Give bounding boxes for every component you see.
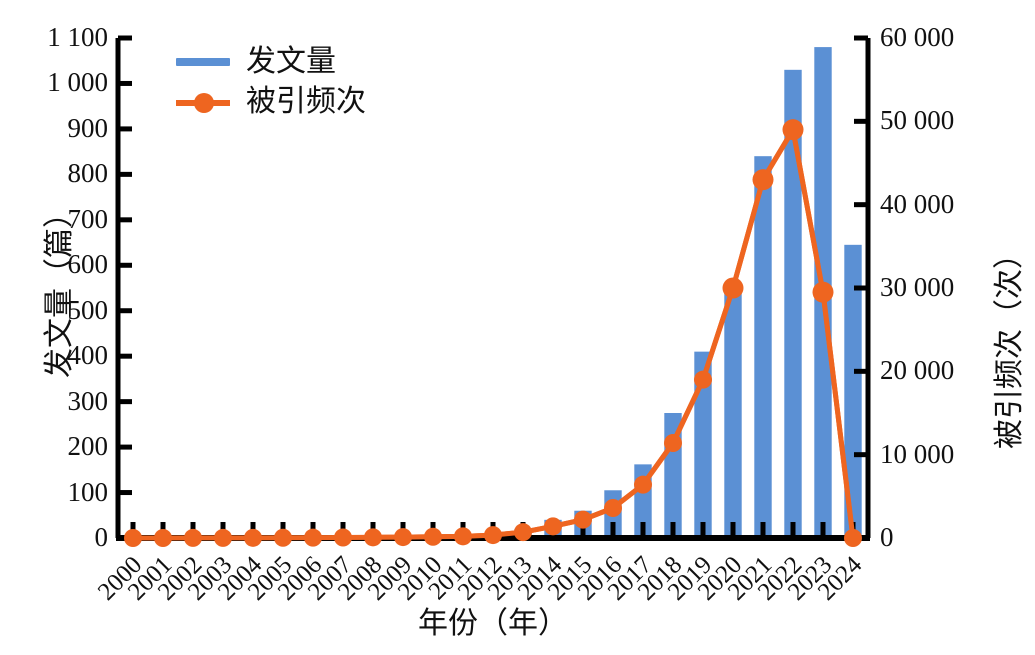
- line-marker-2013: [514, 523, 532, 541]
- line-marker-2005: [274, 529, 292, 547]
- line-marker-2007: [334, 529, 352, 547]
- legend-line-dot-icon: [172, 82, 234, 122]
- line-marker-2023: [813, 282, 834, 303]
- line-marker-2010: [424, 528, 442, 546]
- citation-line-path-overlay: [133, 130, 853, 538]
- chart-figure: 01002003004005006007008009001 0001 100 0…: [0, 0, 1035, 650]
- y-tick-label-right-10000: 10 000: [880, 441, 954, 468]
- line-marker-2000: [124, 529, 142, 547]
- line-marker-2017: [634, 476, 652, 494]
- y-tick-label-left-200: 200: [68, 433, 109, 460]
- line-marker-2006: [304, 529, 322, 547]
- y-tick-label-left-0: 0: [95, 524, 109, 551]
- line-marker-2021: [753, 169, 774, 190]
- line-marker-2001: [154, 529, 172, 547]
- line-marker-2003: [214, 529, 232, 547]
- line-marker-2008: [364, 528, 382, 546]
- line-marker-2019: [694, 371, 712, 389]
- legend-label-1: 被引频次: [246, 87, 366, 117]
- line-marker-2004: [244, 529, 262, 547]
- line-series: [133, 130, 853, 538]
- line-marker-2011: [454, 527, 472, 545]
- line-marker-2012: [484, 526, 502, 544]
- y-tick-label-right-50000: 50 000: [880, 107, 954, 134]
- legend-item-bar: 发文量: [172, 42, 366, 82]
- y-tick-label-right-60000: 60 000: [880, 24, 954, 51]
- y-tick-label-right-20000: 20 000: [880, 357, 954, 384]
- line-marker-2018: [664, 434, 682, 452]
- y-tick-label-left-900: 900: [68, 115, 109, 142]
- line-markers: [124, 119, 862, 547]
- y-tick-label-right-30000: 30 000: [880, 274, 954, 301]
- legend-bar-swatch-icon: [172, 42, 234, 82]
- bar-2021: [754, 156, 771, 538]
- y-axis-left-title: 发文量（篇）: [44, 158, 76, 418]
- line-marker-2002: [184, 529, 202, 547]
- y-tick-label-right-0: 0: [880, 524, 894, 551]
- line-marker-2009: [394, 528, 412, 546]
- x-axis-title: 年份（年）: [343, 608, 643, 640]
- y-tick-label-left-100: 100: [68, 479, 109, 506]
- legend-label-0: 发文量: [246, 47, 336, 77]
- chart-legend: 发文量 被引频次: [172, 42, 366, 122]
- line-marker-2020: [723, 278, 744, 299]
- y-tick-label-left-1100: 1 100: [47, 24, 108, 51]
- legend-item-line: 被引频次: [172, 82, 366, 122]
- y-tick-label-right-40000: 40 000: [880, 191, 954, 218]
- bar-2020: [724, 289, 741, 538]
- citation-line-path: [133, 130, 853, 538]
- line-marker-2015: [574, 511, 592, 529]
- line-marker-2014: [544, 517, 562, 535]
- line-marker-2024: [844, 529, 862, 547]
- y-axis-right-title: 被引频次（次）: [994, 194, 1026, 494]
- y-tick-label-left-1000: 1 000: [47, 69, 108, 96]
- line-marker-2016: [604, 499, 622, 517]
- line-marker-2022: [783, 119, 804, 140]
